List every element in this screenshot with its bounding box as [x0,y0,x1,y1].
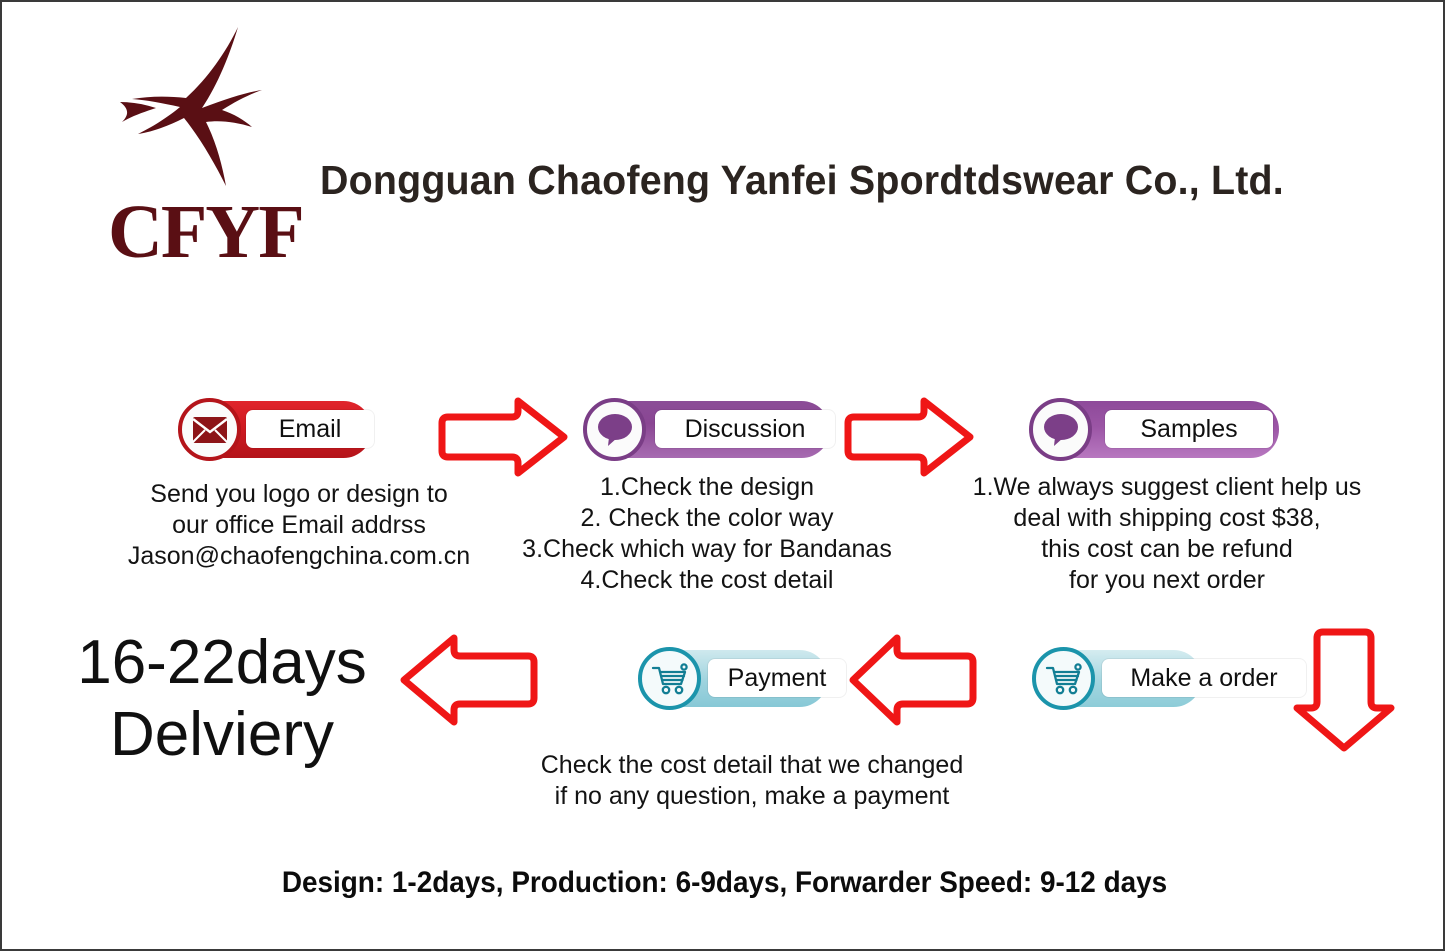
step-description-samples: 1.We always suggest client help us deal … [947,472,1387,596]
logo-wordmark: CFYF [108,192,303,272]
envelope-icon [178,398,241,461]
step-label-payment: Payment [708,659,846,697]
speech-bubble-icon [1029,398,1092,461]
shopping-cart-icon [638,647,701,710]
step-badge-discussion[interactable]: Discussion [585,401,830,458]
step-badge-make-a-order[interactable]: Make a order [1034,650,1202,707]
step-badge-payment[interactable]: Payment [640,650,828,707]
arrow-right-discussion-to-samples [842,395,977,484]
step-badge-samples[interactable]: Samples [1031,401,1279,458]
step-description-payment: Check the cost detail that we changed if… [502,750,1002,812]
infographic-canvas: CFYF Dongguan Chaofeng Yanfei Spordtdswe… [0,0,1445,951]
shopping-cart-icon [1032,647,1095,710]
step-label-samples: Samples [1105,410,1273,448]
step-label-email: Email [246,410,374,448]
arrow-right-email-to-discussion [436,395,571,484]
delivery-time-label: 16-22days Delviery [47,627,397,771]
arrow-left-order-to-payment [847,630,979,735]
step-label-make-a-order: Make a order [1102,659,1306,697]
step-label-discussion: Discussion [655,410,835,448]
step-badge-email[interactable]: Email [180,401,372,458]
timeline-summary: Design: 1-2days, Production: 6-9days, Fo… [53,866,1397,900]
speech-bubble-icon [583,398,646,461]
flying-bird-logo-icon [110,24,290,194]
arrow-down-samples-to-order [1289,626,1399,759]
step-description-email: Send you logo or design to our office Em… [110,479,488,572]
company-name: Dongguan Chaofeng Yanfei Spordtdswear Co… [320,156,1284,204]
step-description-discussion: 1.Check the design 2. Check the color wa… [502,472,912,596]
arrow-left-payment-to-delivery [398,630,540,735]
